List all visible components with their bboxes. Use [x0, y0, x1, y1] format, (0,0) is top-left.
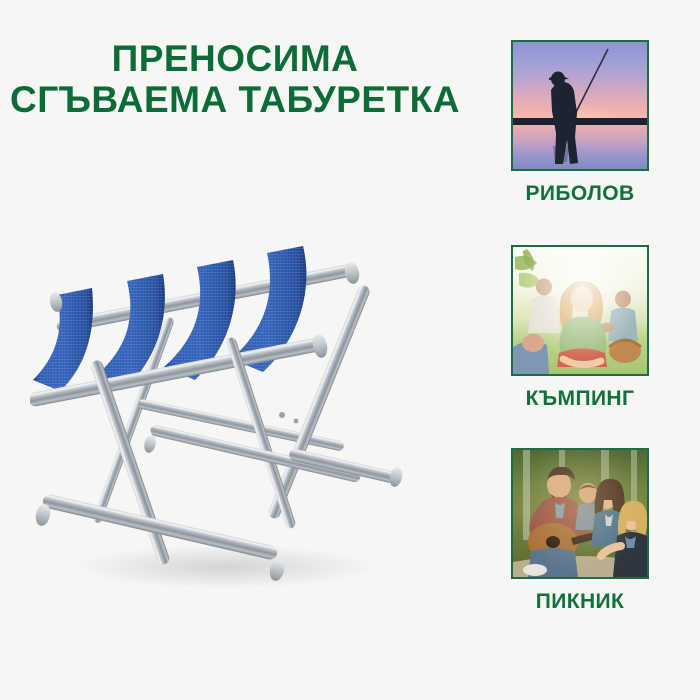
stool-leg-front-left — [89, 359, 170, 566]
usecase-label-picnic: ПИКНИК — [460, 590, 700, 614]
product-image-folding-stool — [30, 215, 410, 605]
pivot-rivet — [279, 412, 285, 418]
title-line-2: СГЪВАЕМА ТАБУРЕТКА — [10, 79, 460, 120]
usecase-label-fishing: РИБОЛОВ — [460, 182, 700, 206]
advertisement-canvas: ПРЕНОСИМА СГЪВАЕМА ТАБУРЕТКА — [0, 0, 700, 700]
fishing-thumbnail — [511, 40, 649, 171]
stool-brace-mid-right — [143, 424, 362, 483]
angler-silhouette — [513, 42, 647, 169]
usecase-item-fishing[interactable]: РИБОЛОВ — [460, 40, 700, 206]
product-shadow — [75, 545, 375, 589]
sunlight-haze — [513, 247, 647, 374]
rail-end-cap — [143, 434, 158, 454]
usecase-list: РИБОЛОВ — [460, 40, 700, 660]
usecase-item-picnic[interactable]: ПИКНИК — [460, 448, 700, 614]
seat-strap — [33, 288, 93, 391]
usecase-label-camping: КЪМПИНГ — [460, 387, 700, 411]
rail-end-cap — [388, 466, 404, 488]
pivot-rivet — [294, 419, 299, 424]
folding-stool-illustration — [30, 215, 410, 605]
title-line-1: ПРЕНОСИМА — [10, 38, 460, 79]
usecase-item-camping[interactable]: КЪМПИНГ — [460, 245, 700, 411]
page-title: ПРЕНОСИМА СГЪВАЕМА ТАБУРЕТКА — [10, 38, 460, 121]
picnic-thumbnail — [511, 448, 649, 579]
camping-thumbnail — [511, 245, 649, 376]
rail-end-cap — [343, 261, 361, 285]
rail-end-cap — [311, 333, 329, 359]
sunlight-haze — [513, 450, 647, 577]
